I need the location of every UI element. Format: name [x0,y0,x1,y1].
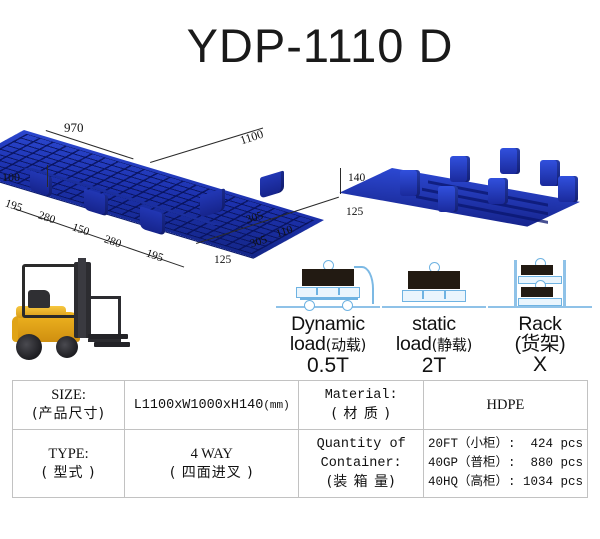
icon-rack-post [514,260,517,308]
size-value: L1100xW1000xH140 [134,398,264,413]
load-value: 2T [382,355,486,377]
type-label-en: TYPE: [17,445,120,464]
dim-label-195-a: 195 [4,198,24,215]
pallet-foot [260,170,284,198]
pallet-leg [450,156,470,182]
icon-wheel [342,300,353,311]
pallet-leg [540,160,560,186]
icon-ground-line [488,306,592,308]
load-label-en: load [396,333,432,355]
load-label-line1: static [382,314,486,334]
dim-label-140: 140 [348,172,365,184]
forklift-wheel [56,336,78,358]
icon-wheel [304,300,315,311]
pallet-leg [500,148,520,174]
cell-size-value: L1100xW1000xH140(mm) [125,381,299,430]
dim-label-970: 970 [64,120,84,136]
cell-material-value: HDPE [423,381,587,430]
load-label-en: load [290,333,326,355]
forklift-fork [88,334,128,339]
cell-quantity-value: 20FT（小柜）: 424 pcs 40GP（普柜）: 880 pcs 40HQ… [423,430,587,498]
load-label-cn: (动载) [326,336,367,354]
cell-size-label: SIZE: (产品尺寸) [13,381,125,430]
load-column-rack: Rack (货架) X [488,258,592,376]
icon-pallet-bar [518,298,562,306]
load-label-line2: load(静载) [382,334,486,355]
forklift-seat [28,290,50,308]
pallet-leg [558,176,578,202]
pallet-leg [488,178,508,204]
type-value-en: 4 WAY [129,445,294,464]
material-label-cn: ( 材 质 ) [303,405,419,424]
qty-label-line1: Quantity of [303,435,419,454]
size-unit: (mm) [263,400,289,412]
icon-ground-line [276,306,380,308]
table-row: TYPE: ( 型式 ) 4 WAY ( 四面进叉 ) Quantity of … [13,430,588,498]
icon-pallet-divider [422,291,424,299]
rack-load-icon [488,258,592,314]
page-title: YDP-1110 D [0,18,600,73]
product-drawing-area: 970 1100 100 195 280 150 280 195 125 305… [0,108,600,370]
icon-truck-handle [354,266,374,304]
pallet-leg [438,186,458,212]
icon-pallet-bar [296,287,360,298]
pallet-bottom-view-drawing [392,134,592,242]
load-column-dynamic: Dynamic load(动载) 0.5T [276,258,380,377]
pallet-isometric-drawing [24,130,344,260]
pallet-truck-icon [276,258,380,314]
load-label-line1: Rack [488,314,592,334]
load-label-line1: Dynamic [276,314,380,334]
dim-label-100: 100 [2,170,20,185]
qty-rows: 20FT（小柜）: 424 pcs 40GP（普柜）: 880 pcs 40HQ… [428,435,583,492]
forklift-fork [94,342,130,347]
specification-table: SIZE: (产品尺寸) L1100xW1000xH140(mm) Materi… [12,380,588,498]
size-label-en: SIZE: [17,386,120,405]
size-label-cn: (产品尺寸) [17,405,120,424]
forklift-mast-inner [78,258,86,338]
dim-line-height-right [340,168,341,194]
icon-pallet-divider [338,288,340,295]
cell-quantity-label: Quantity of Container: (装 箱 量) [299,430,424,498]
load-value: 0.5T [276,355,380,377]
icon-load-block [408,271,460,289]
cell-type-label: TYPE: ( 型式 ) [13,430,125,498]
icon-load-block [521,265,553,275]
forklift-wheel [16,334,42,360]
type-label-cn: ( 型式 ) [17,464,120,483]
pallet-leg [400,170,420,196]
load-label-cn: (静载) [432,336,473,354]
load-label-cn: (货架) [488,334,592,354]
dim-label-125-b: 125 [346,206,363,218]
qty-label-cn: (装 箱 量) [303,473,419,492]
icon-pallet-divider [316,288,318,295]
forklift-illustration [6,256,126,368]
icon-pallet-bar [402,290,466,302]
material-label-en: Material: [303,386,419,405]
load-label-line2: load(动载) [276,334,380,355]
material-value: HDPE [487,397,525,413]
icon-ground-line [382,306,486,308]
icon-load-block [302,269,354,286]
table-row: SIZE: (产品尺寸) L1100xW1000xH140(mm) Materi… [13,381,588,430]
static-load-icon [382,258,486,314]
cell-type-value: 4 WAY ( 四面进叉 ) [125,430,299,498]
dim-line-height-left [47,165,48,187]
icon-rack-post [563,260,566,308]
load-column-static: static load(静载) 2T [382,258,486,377]
dim-label-125-a: 125 [214,254,231,266]
icon-load-block [521,287,553,297]
icon-pallet-divider [444,291,446,299]
load-capacity-group: Dynamic load(动载) 0.5T static load(静载) 2T [276,258,596,370]
cell-material-label: Material: ( 材 质 ) [299,381,424,430]
type-value-cn: ( 四面进叉 ) [129,464,294,483]
qty-label-line2: Container: [303,454,419,473]
load-value: X [488,354,592,376]
